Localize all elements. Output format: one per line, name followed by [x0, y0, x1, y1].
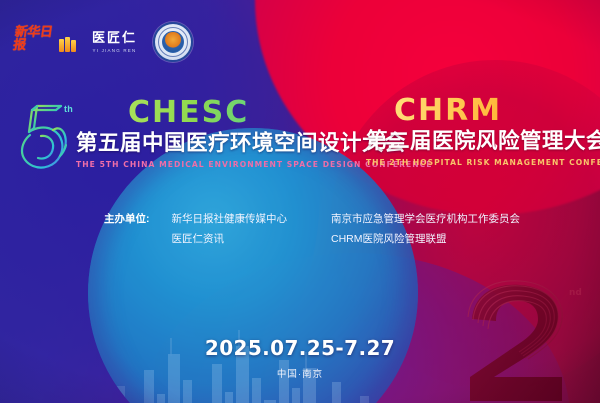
chrm-title-en: THE 2TH HOSPITAL RISK MANAGEMENT CONFERE…: [366, 158, 600, 167]
decorative-numeral-ordinal: nd: [569, 288, 582, 298]
yijiangren-logo-cn: 医匠仁: [92, 31, 137, 45]
organizers-section: 主办单位: 新华日报社健康传媒中心 医匠仁资讯 南京市应急管理学会医疗机构工作委…: [104, 210, 520, 250]
yijiangren-logo[interactable]: 医匠仁 YI JIANG REN: [92, 31, 137, 52]
seal-ring-icon: [158, 27, 188, 57]
logo-bar: 新华日报 医匠仁 YI JIANG REN: [14, 18, 193, 66]
xinhua-daily-logo[interactable]: 新华日报: [14, 32, 76, 52]
chrm-acronym: CHRM: [394, 96, 600, 126]
organizers-columns: 新华日报社健康传媒中心 医匠仁资讯 南京市应急管理学会医疗机构工作委员会 CHR…: [172, 210, 521, 250]
organizer-item: 南京市应急管理学会医疗机构工作委员会: [331, 210, 520, 230]
yijiangren-logo-en: YI JIANG REN: [92, 48, 137, 53]
event-location: 中国·南京: [0, 366, 600, 380]
organizers-column-right: 南京市应急管理学会医疗机构工作委员会 CHRM医院风险管理联盟: [331, 210, 520, 250]
event-date: 2025.07.25-7.27: [0, 336, 600, 360]
organizer-item: 医匠仁资讯: [172, 230, 288, 250]
chrm-block: CHRM 第二届医院风险管理大会 THE 2TH HOSPITAL RISK M…: [366, 96, 600, 167]
organizer-item: CHRM医院风险管理联盟: [331, 230, 520, 250]
chrm-title-cn: 第二届医院风险管理大会: [366, 129, 600, 154]
xinhua-daily-blocks-icon: [59, 37, 76, 52]
organizers-column-left: 新华日报社健康传媒中心 医匠仁资讯: [172, 210, 288, 250]
headline-row: th CHESC 第五届中国医疗环境空间设计大会 THE 5TH CHINA M…: [0, 96, 600, 184]
association-seal-logo[interactable]: [153, 22, 193, 62]
edition-numeral-five: th: [12, 96, 74, 176]
event-datetime-block: 2025.07.25-7.27 中国·南京: [0, 336, 600, 380]
edition-numeral-ordinal: th: [64, 104, 73, 114]
organizer-item: 新华日报社健康传媒中心: [172, 210, 288, 230]
conference-poster: nd 新华日报 医匠仁 YI JIANG REN: [0, 0, 600, 403]
organizers-label: 主办单位:: [104, 210, 150, 230]
xinhua-daily-wordmark: 新华日报: [12, 26, 60, 52]
